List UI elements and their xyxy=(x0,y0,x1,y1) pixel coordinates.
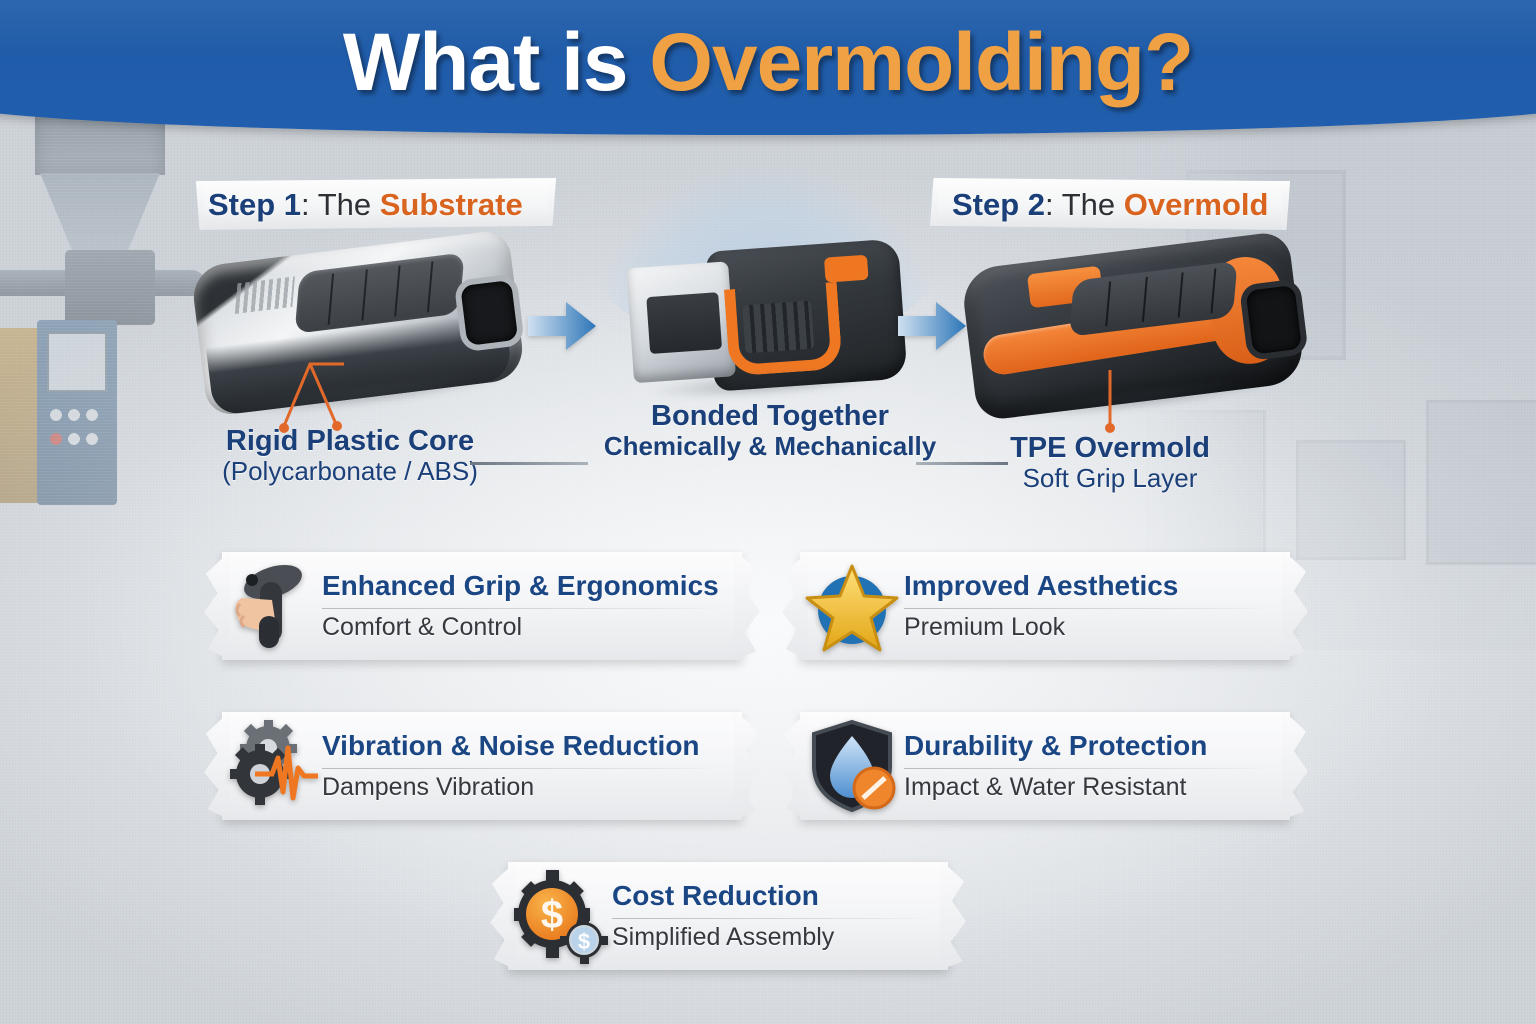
product-bonded xyxy=(625,239,902,397)
page-title-orange: Overmolding? xyxy=(649,17,1193,108)
benefit-subtitle: Impact & Water Resistant xyxy=(904,774,1272,802)
caption-substrate-sub: (Polycarbonate / ABS) xyxy=(150,457,550,487)
step-1-the: : The xyxy=(301,187,380,222)
benefit-title: Cost Reduction xyxy=(612,881,930,912)
gold-star-icon xyxy=(804,558,900,654)
benefit-card-durability[interactable]: Durability & Protection Impact & Water R… xyxy=(800,712,1290,820)
caption-overmold: TPE Overmold Soft Grip Layer xyxy=(910,432,1310,494)
benefit-subtitle: Dampens Vibration xyxy=(322,774,724,802)
page-title-white: What is xyxy=(343,17,649,108)
arrow-1 xyxy=(528,300,596,352)
benefit-title: Improved Aesthetics xyxy=(904,571,1272,602)
benefit-title: Vibration & Noise Reduction xyxy=(322,731,724,762)
right-arrow-icon xyxy=(528,300,596,352)
dollar-gears-icon: $ $ xyxy=(512,868,608,964)
caption-overmold-sub: Soft Grip Layer xyxy=(910,464,1310,494)
benefit-card-aesthetics[interactable]: Improved Aesthetics Premium Look xyxy=(800,552,1290,660)
step-2-highlight: Overmold xyxy=(1124,187,1269,222)
infographic-canvas: What is Overmolding? Step 1: The Substra… xyxy=(0,0,1536,1024)
step-1-number: Step 1 xyxy=(208,187,301,222)
gear-waveform-icon xyxy=(226,718,322,814)
benefit-card-vibration[interactable]: Vibration & Noise Reduction Dampens Vibr… xyxy=(222,712,742,820)
benefit-card-grip[interactable]: Enhanced Grip & Ergonomics Comfort & Con… xyxy=(222,552,742,660)
arrow-2 xyxy=(898,300,966,352)
svg-text:$: $ xyxy=(578,929,590,954)
caption-bonded-title: Bonded Together xyxy=(570,400,970,432)
step-1-highlight: Substrate xyxy=(380,187,523,222)
benefit-subtitle: Comfort & Control xyxy=(322,614,724,642)
right-arrow-icon xyxy=(898,300,966,352)
page-title: What is Overmolding? xyxy=(0,16,1536,110)
caption-substrate-title: Rigid Plastic Core xyxy=(150,425,550,457)
caption-overmold-title: TPE Overmold xyxy=(910,432,1310,464)
step-2-the: : The xyxy=(1045,187,1124,222)
step-2-heading: Step 2: The Overmold xyxy=(952,187,1268,223)
svg-text:$: $ xyxy=(541,893,563,937)
benefit-subtitle: Premium Look xyxy=(904,614,1272,642)
card-divider xyxy=(322,608,724,609)
card-divider xyxy=(322,768,724,769)
card-divider xyxy=(904,768,1272,769)
benefit-subtitle: Simplified Assembly xyxy=(612,924,930,952)
card-divider xyxy=(904,608,1272,609)
hand-grip-icon xyxy=(226,558,322,654)
benefit-title: Durability & Protection xyxy=(904,731,1272,762)
step-1-heading: Step 1: The Substrate xyxy=(208,187,523,223)
benefit-title: Enhanced Grip & Ergonomics xyxy=(322,571,724,602)
shield-droplet-icon xyxy=(804,718,900,814)
step-2-number: Step 2 xyxy=(952,187,1045,222)
benefit-card-cost[interactable]: $ $ Cost Reduction Simplified Assembly xyxy=(508,862,948,970)
card-divider xyxy=(612,918,930,919)
caption-substrate: Rigid Plastic Core (Polycarbonate / ABS) xyxy=(150,425,550,487)
